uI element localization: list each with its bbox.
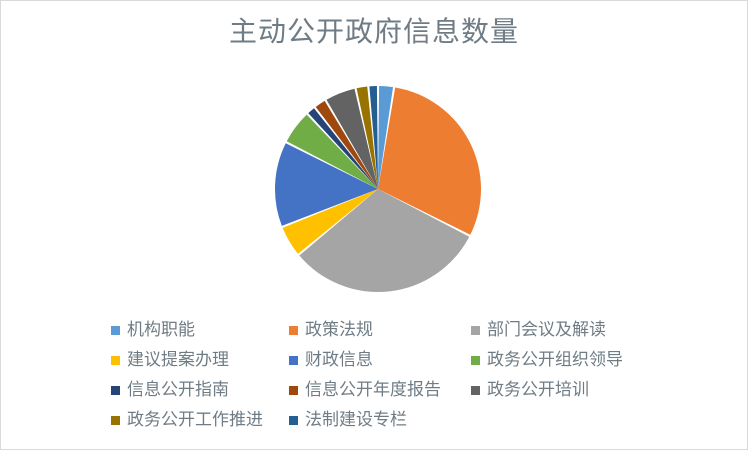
legend-swatch-icon <box>111 356 120 365</box>
legend-swatch-icon <box>289 326 298 335</box>
legend-item-label: 财政信息 <box>305 351 373 370</box>
legend-item-label: 信息公开指南 <box>127 381 229 400</box>
legend-item-label: 部门会议及解读 <box>487 321 606 340</box>
legend-swatch-icon <box>289 356 298 365</box>
legend-swatch-icon <box>471 356 480 365</box>
legend-item-label: 法制建设专栏 <box>305 411 407 430</box>
chart-legend: 机构职能政策法规部门会议及解读建议提案办理财政信息政务公开组织领导信息公开指南信… <box>111 315 671 435</box>
legend-item[interactable]: 政策法规 <box>289 315 471 345</box>
pie-slice-group: 机构职能政策法规部门会议及解读建议提案办理财政信息政务公开组织领导信息公开指南信… <box>275 86 481 292</box>
legend-item[interactable]: 政务公开培训 <box>471 375 671 405</box>
legend-swatch-icon <box>289 416 298 425</box>
legend-item[interactable]: 政务公开工作推进 <box>111 405 289 435</box>
legend-item-label: 政务公开培训 <box>487 381 589 400</box>
legend-item[interactable]: 建议提案办理 <box>111 345 289 375</box>
legend-item-label: 政务公开工作推进 <box>127 411 263 430</box>
legend-item-label: 信息公开年度报告 <box>305 381 441 400</box>
legend-swatch-icon <box>289 386 298 395</box>
legend-swatch-icon <box>111 416 120 425</box>
legend-swatch-icon <box>471 326 480 335</box>
pie-chart-plot: 机构职能政策法规部门会议及解读建议提案办理财政信息政务公开组织领导信息公开指南信… <box>273 84 483 294</box>
pie-chart-card: 主动公开政府信息数量 机构职能政策法规部门会议及解读建议提案办理财政信息政务公开… <box>0 0 748 450</box>
legend-item-label: 建议提案办理 <box>127 351 229 370</box>
pie-svg: 机构职能政策法规部门会议及解读建议提案办理财政信息政务公开组织领导信息公开指南信… <box>273 84 483 294</box>
legend-item[interactable]: 部门会议及解读 <box>471 315 671 345</box>
legend-item-label: 机构职能 <box>127 321 195 340</box>
chart-title: 主动公开政府信息数量 <box>1 15 747 49</box>
legend-item-label: 政策法规 <box>305 321 373 340</box>
legend-row: 机构职能政策法规部门会议及解读 <box>111 315 671 345</box>
legend-swatch-icon <box>471 386 480 395</box>
legend-item[interactable]: 信息公开指南 <box>111 375 289 405</box>
legend-row: 政务公开工作推进法制建设专栏 <box>111 405 671 435</box>
legend-item[interactable]: 法制建设专栏 <box>289 405 471 435</box>
legend-item[interactable]: 机构职能 <box>111 315 289 345</box>
legend-item[interactable]: 信息公开年度报告 <box>289 375 471 405</box>
legend-row: 建议提案办理财政信息政务公开组织领导 <box>111 345 671 375</box>
legend-item[interactable]: 财政信息 <box>289 345 471 375</box>
legend-item-label: 政务公开组织领导 <box>487 351 623 370</box>
legend-row: 信息公开指南信息公开年度报告政务公开培训 <box>111 375 671 405</box>
legend-item[interactable]: 政务公开组织领导 <box>471 345 671 375</box>
legend-swatch-icon <box>111 326 120 335</box>
legend-swatch-icon <box>111 386 120 395</box>
